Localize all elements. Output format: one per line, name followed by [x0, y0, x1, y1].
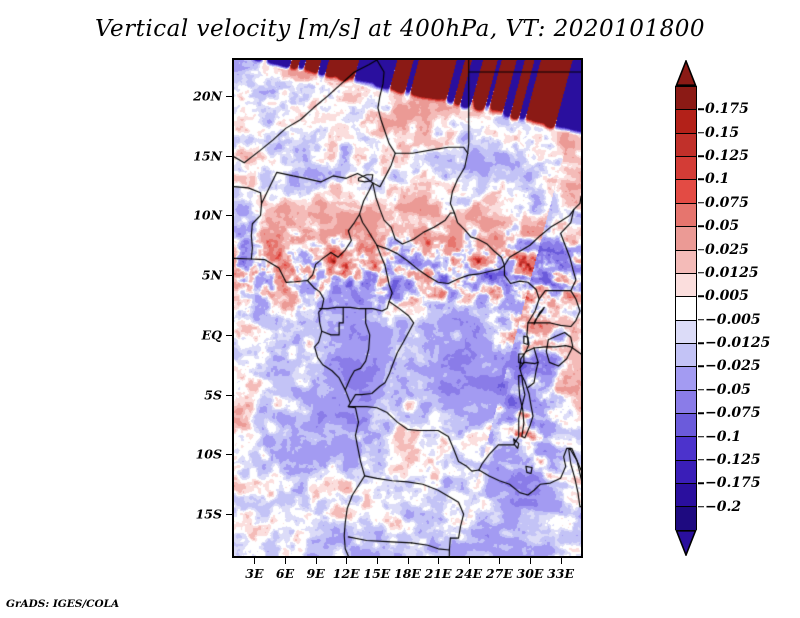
colorbar-segment: [676, 134, 696, 157]
colorbar-tick-mark: [698, 319, 704, 321]
latitude-tick-label: 5S: [168, 387, 222, 402]
colorbar-tick-mark: [698, 342, 704, 344]
colorbar-segment: [676, 484, 696, 507]
longitude-tick-label: 12E: [333, 566, 360, 581]
colorbar-tick-label: −0.2: [705, 499, 741, 515]
latitude-tick: [226, 395, 232, 396]
longitude-tick-label: 9E: [307, 566, 325, 581]
latitude-tick-label: 20N: [168, 88, 222, 103]
colorbar-tick-label: −0.025: [705, 358, 761, 374]
colorbar-tick-label: −0.05: [705, 382, 751, 398]
latitude-tick-label: 10S: [168, 447, 222, 462]
colorbar-tick-mark: [698, 225, 704, 227]
map-plot-area[interactable]: [232, 58, 583, 558]
colorbar-tick-mark: [698, 132, 704, 134]
latitude-tick-label: 5N: [168, 268, 222, 283]
colorbar-arrow-top: [675, 60, 697, 86]
colorbar-tick-mark: [698, 483, 704, 485]
colorbar-segment: [676, 367, 696, 390]
colorbar-segment: [676, 110, 696, 133]
colorbar-tick-label: 0.005: [705, 288, 749, 304]
longitude-tick-label: 27E: [486, 566, 513, 581]
latitude-tick: [226, 335, 232, 336]
longitude-tick-label: 33E: [547, 566, 574, 581]
colorbar-segment: [676, 180, 696, 203]
colorbar-segment: [676, 274, 696, 297]
colorbar-segment: [676, 437, 696, 460]
colorbar-tick-label: 0.15: [705, 125, 739, 141]
longitude-tick: [285, 558, 286, 564]
longitude-tick: [499, 558, 500, 564]
colorbar-tick-mark: [698, 155, 704, 157]
longitude-tick-label: 21E: [425, 566, 452, 581]
colorbar-tick-mark: [698, 459, 704, 461]
longitude-tick-label: 15E: [363, 566, 390, 581]
latitude-tick: [226, 514, 232, 515]
colorbar-tick-label: 0.125: [705, 148, 749, 164]
colorbar-segment: [676, 227, 696, 250]
longitude-tick: [316, 558, 317, 564]
colorbar-tick-mark: [698, 249, 704, 251]
colorbar-tick-label: 0.05: [705, 218, 739, 234]
colorbar-tick-mark: [698, 506, 704, 508]
attribution-footer: GrADS: IGES/COLA: [6, 598, 119, 610]
colorbar-tick-mark: [698, 366, 704, 368]
colorbar-tick-label: −0.125: [705, 452, 761, 468]
colorbar-segment: [676, 157, 696, 180]
colorbar-segment: [676, 251, 696, 274]
colorbar-segment: [676, 344, 696, 367]
colorbar-tick-label: −0.075: [705, 405, 761, 421]
colorbar-tick-mark: [698, 296, 704, 298]
latitude-tick-label: EQ: [168, 327, 222, 342]
longitude-tick-label: 30E: [517, 566, 544, 581]
colorbar-tick-label: −0.005: [705, 312, 761, 328]
latitude-tick: [226, 454, 232, 455]
colorbar-tick-label: 0.1: [705, 171, 729, 187]
colorbar-segments: [675, 86, 697, 530]
latitude-tick-label: 15N: [168, 148, 222, 163]
page-title: Vertical velocity [m/s] at 400hPa, VT: 2…: [0, 16, 800, 42]
colorbar[interactable]: 0.1750.150.1250.10.0750.050.0250.01250.0…: [675, 60, 697, 556]
latitude-tick: [226, 275, 232, 276]
colorbar-tick-mark: [698, 389, 704, 391]
colorbar-segment: [676, 391, 696, 414]
colorbar-tick-label: 0.175: [705, 101, 749, 117]
colorbar-tick-mark: [698, 202, 704, 204]
colorbar-segment: [676, 321, 696, 344]
colorbar-segment: [676, 87, 696, 110]
longitude-tick-label: 18E: [394, 566, 421, 581]
colorbar-tick-mark: [698, 272, 704, 274]
grads-plot-window: Vertical velocity [m/s] at 400hPa, VT: 2…: [0, 0, 800, 618]
latitude-tick-label: 15S: [168, 507, 222, 522]
colorbar-tick-label: −0.0125: [705, 335, 770, 351]
longitude-tick: [254, 558, 255, 564]
longitude-tick: [530, 558, 531, 564]
longitude-tick-label: 3E: [245, 566, 263, 581]
colorbar-tick-mark: [698, 412, 704, 414]
longitude-tick: [377, 558, 378, 564]
longitude-tick-label: 24E: [455, 566, 482, 581]
colorbar-tick-label: −0.1: [705, 429, 741, 445]
colorbar-segment: [676, 204, 696, 227]
colorbar-tick-label: 0.0125: [705, 265, 759, 281]
colorbar-segment: [676, 297, 696, 320]
colorbar-segment: [676, 507, 696, 530]
colorbar-tick-mark: [698, 179, 704, 181]
longitude-tick: [561, 558, 562, 564]
colorbar-tick-label: 0.025: [705, 242, 749, 258]
longitude-tick-label: 6E: [276, 566, 294, 581]
colorbar-tick-mark: [698, 436, 704, 438]
country-borders-overlay: [234, 60, 581, 556]
latitude-tick-label: 10N: [168, 208, 222, 223]
latitude-tick: [226, 215, 232, 216]
colorbar-segment: [676, 461, 696, 484]
colorbar-tick-label: −0.175: [705, 475, 761, 491]
longitude-tick: [346, 558, 347, 564]
latitude-tick: [226, 96, 232, 97]
longitude-tick: [408, 558, 409, 564]
colorbar-tick-mark: [698, 109, 704, 111]
colorbar-arrow-bottom: [675, 530, 697, 556]
colorbar-tick-label: 0.075: [705, 195, 749, 211]
longitude-tick: [469, 558, 470, 564]
longitude-tick: [438, 558, 439, 564]
colorbar-segment: [676, 414, 696, 437]
latitude-tick: [226, 156, 232, 157]
